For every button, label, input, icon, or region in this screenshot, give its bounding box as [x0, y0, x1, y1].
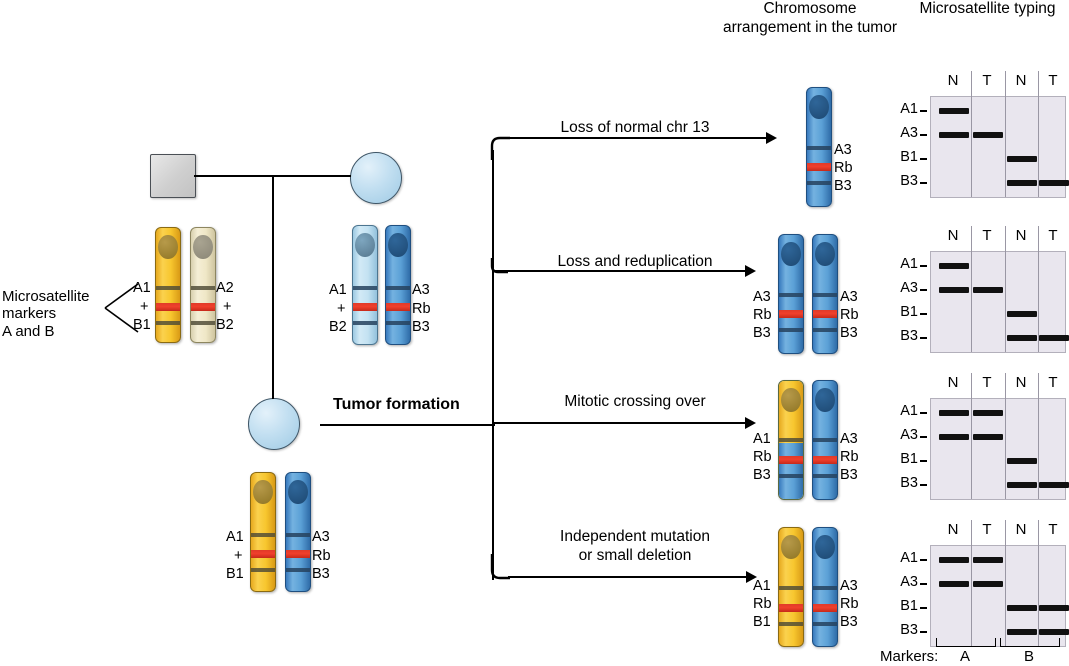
rb-locus-band [807, 163, 831, 171]
gel-band-A3-N-a [939, 132, 969, 138]
marker-band-a [813, 293, 837, 297]
tumor4-chr1-label-top: A1 [753, 579, 771, 594]
father-chr1-label-mid: + [140, 300, 148, 315]
gel-band-B3-N-b [1007, 335, 1037, 341]
gel-row-label-A3: A3 [888, 427, 918, 443]
rb-locus-band [779, 310, 803, 318]
gel-row-label-B1: B1 [888, 304, 918, 320]
pathway-spine [492, 150, 494, 580]
tumor3-chr1-label-top: A1 [753, 432, 771, 447]
daughter-chr2-label-mid: Rb [312, 549, 331, 564]
marker-band-b [286, 568, 310, 572]
marker-band-a [191, 286, 215, 290]
tumor2-chr1-label-top: A3 [753, 290, 771, 305]
tumor3-chr2-label-bottom: B3 [840, 468, 858, 483]
gel-row-label-B3: B3 [888, 475, 918, 491]
gel-lane-separator [1005, 373, 1006, 499]
gel-band-A1-N-a [939, 557, 969, 563]
gel-lane-separator [1005, 226, 1006, 352]
pathway-arrow-2-line [492, 270, 747, 272]
gel-row-tick [920, 607, 927, 609]
rb-locus-band [191, 303, 215, 311]
gel-lane-separator [1038, 373, 1039, 499]
pathway-arrow-1-head [766, 132, 777, 144]
gel-row-tick [920, 134, 927, 136]
centromere-icon [809, 95, 828, 119]
marker-band-b [779, 474, 803, 478]
gel-row-label-B3: B3 [888, 328, 918, 344]
tumor-chromosome-4-1 [778, 527, 804, 647]
gel-row-label-B3: B3 [888, 622, 918, 638]
tumor1-chr1-label-mid: Rb [834, 161, 853, 176]
tumor-formation-label: Tumor formation [333, 396, 460, 414]
rb-locus-band [779, 604, 803, 612]
marker-band-b [353, 321, 377, 325]
microsatellite-markers-annotation: Microsatellite markers A and B [2, 288, 112, 340]
gel-row-tick [920, 337, 927, 339]
spine-corner-2 [486, 258, 510, 282]
tumor2-chr2-label-top: A3 [840, 290, 858, 305]
centromere-icon [815, 388, 834, 412]
marker-band-b [386, 321, 410, 325]
tumor1-chr1-label-top: A3 [834, 143, 852, 158]
gel-band-B1-N-b [1007, 458, 1037, 464]
gel-row-tick [920, 158, 927, 160]
father-chr2-label-mid: + [223, 300, 231, 315]
gel-band-B1-N-b [1007, 311, 1037, 317]
marker-band-a [813, 586, 837, 590]
chromosome-daughter-2 [285, 472, 311, 592]
gel-band-A1-N-a [939, 410, 969, 416]
tumor3-chr1-label-mid: Rb [753, 450, 772, 465]
gel-row-label-A3: A3 [888, 574, 918, 590]
pathway-arrow-3-line [492, 422, 747, 424]
gel-lane-separator [971, 373, 972, 499]
gel-row-label-B3: B3 [888, 173, 918, 189]
marker-band-a [807, 146, 831, 150]
gel-row-tick [920, 182, 927, 184]
gel-row-label-B1: B1 [888, 149, 918, 165]
rb-locus-band [286, 550, 310, 558]
marker-band-b [191, 321, 215, 325]
gel-row-tick [920, 110, 927, 112]
recombinant-lower-blue [779, 443, 803, 499]
gel-lane-separator [971, 520, 972, 646]
centromere-icon [158, 235, 177, 259]
tumor1-chr1-label-bottom: B3 [834, 179, 852, 194]
gel-column-header-T-1: T [975, 227, 999, 244]
tumor4-chr2-label-mid: Rb [840, 597, 859, 612]
pedigree-line-descent [272, 175, 274, 399]
gel-band-B3-T-b [1039, 335, 1069, 341]
father-chr1-label-top: A1 [133, 281, 151, 296]
mother-chr2-label-top: A3 [412, 283, 430, 298]
markers-group-a-label: A [960, 648, 970, 665]
tumor4-chr1-label-bottom: B1 [753, 615, 771, 630]
marker-band-a [386, 286, 410, 290]
pathway-label-loss-of-normal-chr13: Loss of normal chr 13 [500, 119, 770, 138]
gel-row-label-A1: A1 [888, 101, 918, 117]
marker-band-b [813, 474, 837, 478]
gel-band-A3-T-a [973, 287, 1003, 293]
tumor-chromosome-2-2 [812, 234, 838, 354]
chromosome-mother-1 [352, 225, 378, 345]
father-chr2-label-top: A2 [216, 281, 234, 296]
chromosome-father-1 [155, 227, 181, 343]
gel-band-A3-T-a [973, 581, 1003, 587]
markers-bracket-b [1000, 638, 1060, 647]
gel-column-header-N-0: N [941, 227, 965, 244]
tumor4-chr2-label-top: A3 [840, 579, 858, 594]
gel-band-A1-N-a [939, 108, 969, 114]
tumor-formation-trunk [320, 424, 495, 426]
gel-column-header-T-3: T [1041, 521, 1065, 538]
centromere-icon [355, 233, 374, 257]
gel-band-B3-N-b [1007, 482, 1037, 488]
gel-column-header-T-3: T [1041, 72, 1065, 89]
centromere-icon [388, 233, 407, 257]
pathway-label-mitotic-crossing-over: Mitotic crossing over [500, 393, 770, 412]
markers-group-b-label: B [1024, 648, 1034, 665]
tumor2-chr1-label-bottom: B3 [753, 326, 771, 341]
gel-row-label-A1: A1 [888, 403, 918, 419]
gel-column-header-T-1: T [975, 521, 999, 538]
mother-chr2-label-bottom: B3 [412, 320, 430, 335]
gel-row-tick [920, 460, 927, 462]
gel-row-label-B1: B1 [888, 598, 918, 614]
gel-panel-mitotic-crossing-over [930, 398, 1066, 500]
spine-corner-top [486, 136, 516, 166]
gel-band-A3-N-a [939, 287, 969, 293]
marker-band-a [353, 286, 377, 290]
gel-lane-separator [1038, 520, 1039, 646]
rb-locus-band [779, 456, 803, 464]
gel-column-header-N-0: N [941, 374, 965, 391]
gel-lane-separator [1038, 71, 1039, 197]
tumor4-chr2-label-bottom: B3 [840, 615, 858, 630]
tumor-chromosome-2-1 [778, 234, 804, 354]
marker-band-a [286, 533, 310, 537]
daughter-chr1-label-top: A1 [226, 530, 244, 545]
gel-panel-loss-and-reduplication [930, 251, 1066, 353]
gel-lane-separator [971, 226, 972, 352]
gel-band-B3-T-b [1039, 629, 1069, 635]
father-chr2-label-bottom: B2 [216, 318, 234, 333]
gel-band-A1-T-a [973, 410, 1003, 416]
gel-column-header-T-3: T [1041, 227, 1065, 244]
marker-band-a [779, 438, 803, 442]
gel-column-header-N-0: N [941, 521, 965, 538]
gel-row-label-A1: A1 [888, 550, 918, 566]
pedigree-daughter-symbol [248, 398, 300, 450]
gel-row-label-B1: B1 [888, 451, 918, 467]
tumor2-chr2-label-mid: Rb [840, 308, 859, 323]
gel-band-B1-T-b [1039, 605, 1069, 611]
gel-lane-separator [1005, 71, 1006, 197]
pathway-label-independent-mutation: Independent mutation or small deletion [500, 528, 770, 565]
centromere-icon [288, 480, 307, 504]
tumor-chromosome-3-2 [812, 380, 838, 500]
header-microsatellite-typing: Microsatellite typing [905, 0, 1069, 19]
daughter-chr1-label-mid: + [234, 549, 242, 564]
gel-lane-separator [1038, 226, 1039, 352]
gel-band-A3-N-a [939, 581, 969, 587]
marker-band-b [813, 622, 837, 626]
gel-band-B3-N-b [1007, 629, 1037, 635]
centromere-icon [781, 242, 800, 266]
marker-band-b [807, 181, 831, 185]
gel-row-tick [920, 313, 927, 315]
gel-column-header-N-2: N [1009, 227, 1033, 244]
rb-locus-band [251, 550, 275, 558]
gel-column-header-N-0: N [941, 72, 965, 89]
centromere-icon [781, 388, 800, 412]
rb-locus-band [353, 303, 377, 311]
centromere-icon [815, 242, 834, 266]
gel-row-tick [920, 583, 927, 585]
mother-chr2-label-mid: Rb [412, 302, 431, 317]
gel-row-label-A3: A3 [888, 125, 918, 141]
marker-band-b [779, 328, 803, 332]
tumor2-chr1-label-mid: Rb [753, 308, 772, 323]
pathway-arrow-3-head [745, 417, 756, 429]
tumor2-chr2-label-bottom: B3 [840, 326, 858, 341]
gel-row-tick [920, 559, 927, 561]
tumor-chromosome-4-2 [812, 527, 838, 647]
chromosome-father-2 [190, 227, 216, 343]
rb-locus-band [813, 456, 837, 464]
gel-column-header-T-1: T [975, 72, 999, 89]
centromere-icon [815, 535, 834, 559]
gel-row-tick [920, 631, 927, 633]
tumor3-chr2-label-mid: Rb [840, 450, 859, 465]
gel-row-tick [920, 484, 927, 486]
pedigree-mother-symbol [350, 152, 402, 204]
gel-column-header-N-2: N [1009, 72, 1033, 89]
gel-band-A3-T-a [973, 434, 1003, 440]
rb-locus-band [156, 303, 180, 311]
rb-locus-band [813, 310, 837, 318]
tumor3-chr1-label-bottom: B3 [753, 468, 771, 483]
rb-locus-band [813, 604, 837, 612]
gel-band-B3-T-b [1039, 482, 1069, 488]
centromere-icon [253, 480, 272, 504]
gel-panel-independent-mutation [930, 545, 1066, 647]
markers-bracket-a [936, 638, 996, 647]
gel-lane-separator [971, 71, 972, 197]
gel-column-header-T-1: T [975, 374, 999, 391]
gel-band-A1-N-a [939, 263, 969, 269]
mother-chr1-label-top: A1 [329, 283, 347, 298]
pathway-arrow-4-line [508, 576, 748, 578]
tumor4-chr1-label-mid: Rb [753, 597, 772, 612]
marker-band-a [156, 286, 180, 290]
chromosome-mother-2 [385, 225, 411, 345]
marker-band-a [251, 533, 275, 537]
centromere-icon [193, 235, 212, 259]
father-chr1-label-bottom: B1 [133, 318, 151, 333]
gel-row-tick [920, 265, 927, 267]
pathway-label-loss-and-reduplication: Loss and reduplication [500, 253, 770, 272]
daughter-chr1-label-bottom: B1 [226, 567, 244, 582]
marker-band-a [813, 438, 837, 442]
marker-band-b [779, 622, 803, 626]
marker-band-a [779, 293, 803, 297]
gel-band-B3-N-b [1007, 180, 1037, 186]
mother-chr1-label-bottom: B2 [329, 320, 347, 335]
markers-axis-label: Markers: [880, 648, 938, 665]
rb-locus-band [386, 303, 410, 311]
gel-row-tick [920, 412, 927, 414]
gel-row-tick [920, 289, 927, 291]
marker-band-b [156, 321, 180, 325]
marker-band-b [251, 568, 275, 572]
gel-band-A3-N-a [939, 434, 969, 440]
gel-column-header-N-2: N [1009, 521, 1033, 538]
daughter-chr2-label-bottom: B3 [312, 567, 330, 582]
header-chromosome-arrangement: Chromosome arrangement in the tumor [720, 0, 900, 37]
tumor-chromosome-1-1 [806, 87, 832, 207]
gel-row-tick [920, 436, 927, 438]
gel-column-header-T-3: T [1041, 374, 1065, 391]
gel-panel-loss-of-normal-chr13 [930, 96, 1066, 198]
pedigree-father-symbol [150, 154, 196, 198]
daughter-chr2-label-top: A3 [312, 530, 330, 545]
chromosome-daughter-1 [250, 472, 276, 592]
centromere-icon [781, 535, 800, 559]
gel-row-label-A1: A1 [888, 256, 918, 272]
gel-band-B3-T-b [1039, 180, 1069, 186]
gel-column-header-N-2: N [1009, 374, 1033, 391]
mother-chr1-label-mid: + [337, 302, 345, 317]
marker-band-a [779, 586, 803, 590]
gel-lane-separator [1005, 520, 1006, 646]
tumor3-chr2-label-top: A3 [840, 432, 858, 447]
marker-band-b [813, 328, 837, 332]
tumor-chromosome-3-1 [778, 380, 804, 500]
gel-band-A3-T-a [973, 132, 1003, 138]
gel-band-A1-T-a [973, 557, 1003, 563]
pathway-arrow-1-line [508, 137, 768, 139]
gel-row-label-A3: A3 [888, 280, 918, 296]
gel-band-B1-N-b [1007, 156, 1037, 162]
pathway-arrow-2-head [745, 265, 756, 277]
gel-band-B1-N-b [1007, 605, 1037, 611]
